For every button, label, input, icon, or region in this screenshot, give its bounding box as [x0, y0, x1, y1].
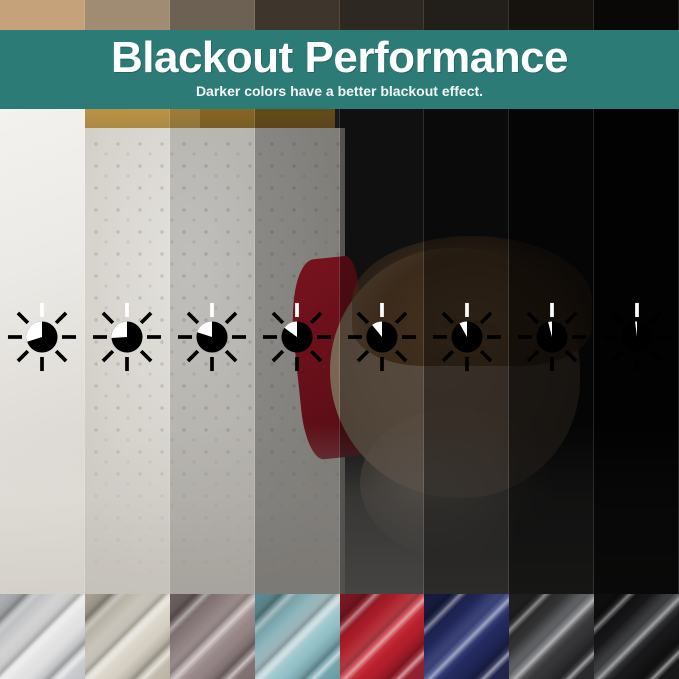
strip-6-near-black [424, 0, 509, 32]
strip-2-taupe [85, 0, 170, 32]
shade-5 [340, 108, 425, 594]
page-subtitle: Darker colors have a better blackout eff… [196, 82, 483, 100]
strip-4-dark-brown [255, 0, 340, 32]
shade-4 [255, 108, 340, 594]
strip-3-brown-grey [170, 0, 255, 32]
shade-2 [85, 108, 170, 594]
swatch-black-gloss [594, 594, 679, 679]
shade-7 [509, 108, 594, 594]
shade-8 [594, 108, 679, 594]
shade-1 [0, 108, 85, 594]
swatch-white-gloss [0, 594, 85, 679]
fabric-swatch-row [0, 594, 679, 679]
swatch-taupe[interactable] [170, 594, 255, 679]
swatch-cream[interactable] [85, 594, 170, 679]
swatch-navy[interactable] [424, 594, 509, 679]
product-photo-area [0, 108, 679, 594]
strip-5-very-dark [340, 0, 425, 32]
swatch-light-blue[interactable] [255, 594, 340, 679]
swatch-cream-gloss [85, 594, 170, 679]
strip-8-pure-black [594, 0, 679, 32]
swatch-red[interactable] [340, 594, 425, 679]
swatch-navy-gloss [424, 594, 509, 679]
top-color-strip-row [0, 0, 679, 32]
shade-3 [170, 108, 255, 594]
swatch-red-gloss [340, 594, 425, 679]
swatch-white[interactable] [0, 594, 85, 679]
blackout-performance-infographic: Blackout Performance Darker colors have … [0, 0, 679, 679]
swatch-grey[interactable] [509, 594, 594, 679]
swatch-grey-gloss [509, 594, 594, 679]
blackout-shade-overlay-row [0, 108, 679, 594]
swatch-taupe-gloss [170, 594, 255, 679]
strip-7-black [509, 0, 594, 32]
shade-6 [424, 108, 509, 594]
strip-1-tan [0, 0, 85, 32]
swatch-light-blue-gloss [255, 594, 340, 679]
swatch-black[interactable] [594, 594, 679, 679]
page-title: Blackout Performance [111, 32, 568, 84]
header-banner: Blackout Performance Darker colors have … [0, 30, 679, 109]
